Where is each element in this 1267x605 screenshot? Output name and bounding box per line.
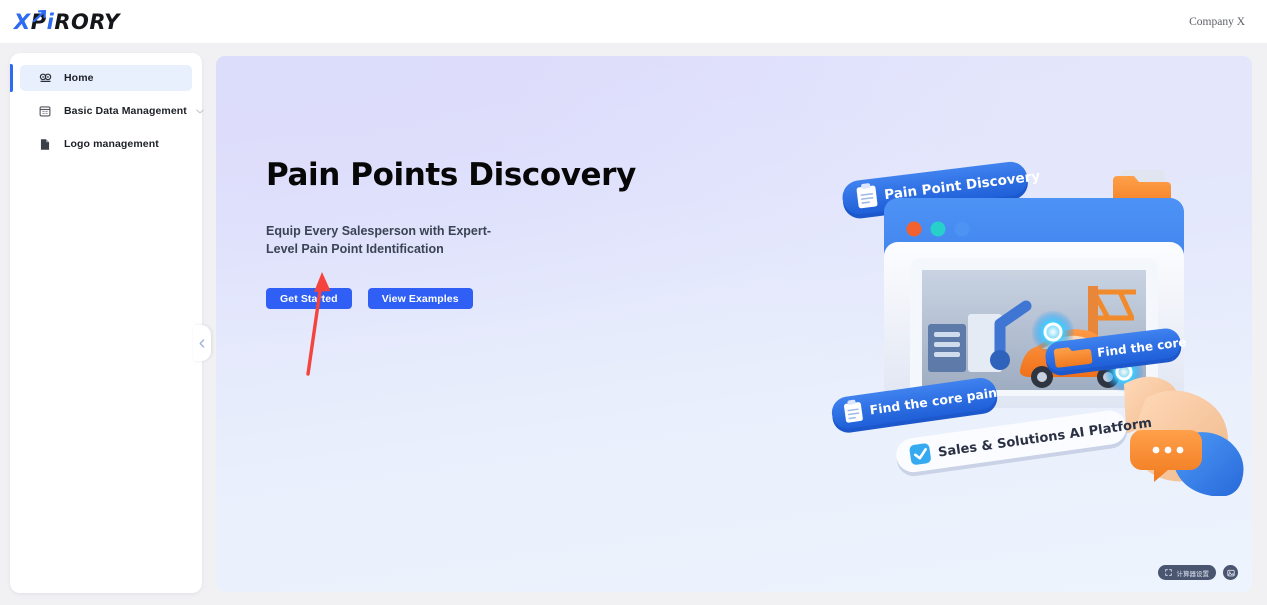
sidebar-collapse-toggle[interactable] xyxy=(193,325,211,361)
chevron-down-icon[interactable] xyxy=(196,109,204,114)
document-icon xyxy=(38,137,52,151)
dashboard-icon xyxy=(38,71,52,85)
sidebar-item-basic-data-management-label: Basic Data Management xyxy=(64,105,187,117)
check-icon xyxy=(909,443,932,466)
hero-illustration: Pain Point Discovery xyxy=(824,146,1244,496)
sidebar-item-logo-management[interactable]: Logo management xyxy=(20,131,192,157)
sidebar-item-basic-data-management[interactable]: Basic Data Management xyxy=(20,98,192,124)
expand-icon xyxy=(1165,569,1172,576)
logo-text: XPiRORY xyxy=(14,9,120,35)
company-name: Company X xyxy=(1189,16,1245,28)
hero-actions: Get Started View Examples xyxy=(266,288,696,309)
calculator-settings-control[interactable]: 计算器设置 xyxy=(1158,565,1217,580)
image-control-button[interactable] xyxy=(1223,565,1238,580)
image-icon xyxy=(1227,569,1235,577)
sidebar: Home Basic Data Management xyxy=(10,53,202,593)
app-logo[interactable]: XPiRORY xyxy=(14,9,120,35)
logo-letters-rory: RORY xyxy=(54,10,119,34)
calculator-settings-label: 计算器设置 xyxy=(1177,568,1210,578)
chevron-left-icon xyxy=(199,339,205,348)
hero-section: Pain Points Discovery Equip Every Salesp… xyxy=(266,156,696,309)
page-title: Pain Points Discovery xyxy=(266,156,696,194)
app-header: XPiRORY Company X xyxy=(0,0,1267,43)
illustration-browser-window xyxy=(884,198,1184,408)
hero-subtitle: Equip Every Salesperson with Expert-Leve… xyxy=(266,222,496,258)
main-content-card: Pain Points Discovery Equip Every Salesp… xyxy=(216,56,1252,592)
sidebar-item-logo-management-label: Logo management xyxy=(64,138,159,150)
float-toolbar: 计算器设置 xyxy=(1158,565,1239,580)
calendar-icon xyxy=(38,104,52,118)
get-started-button[interactable]: Get Started xyxy=(266,288,352,309)
sidebar-item-home[interactable]: Home xyxy=(20,65,192,91)
view-examples-button[interactable]: View Examples xyxy=(368,288,473,309)
arrow-up-right-icon xyxy=(33,10,49,22)
sidebar-item-home-label: Home xyxy=(64,72,94,84)
page-body: Home Basic Data Management xyxy=(0,43,1267,605)
logo-letter-x: X xyxy=(14,10,31,34)
